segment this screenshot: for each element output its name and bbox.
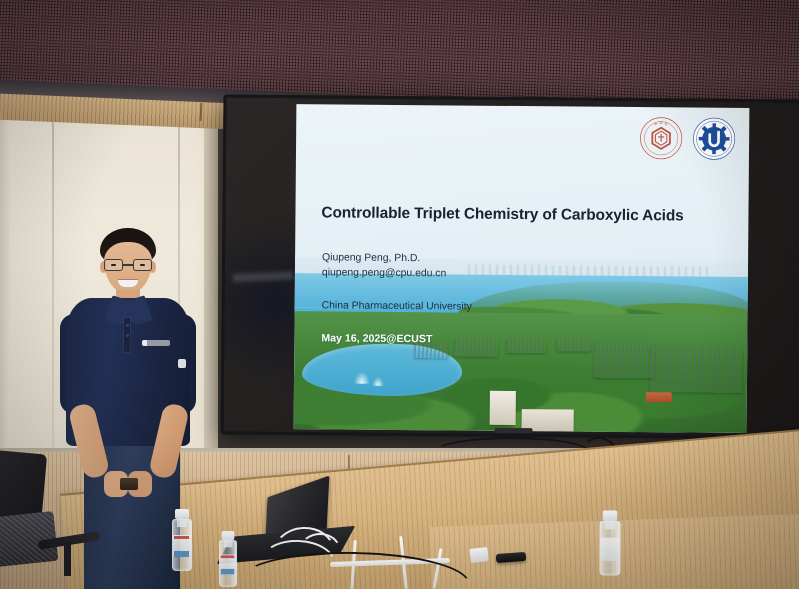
gear-circle-icon xyxy=(692,117,736,161)
slide-logo-row: 中国药 xyxy=(639,116,736,161)
wall-display[interactable]: 中国药 xyxy=(221,94,799,439)
bottle-cap[interactable] xyxy=(175,509,189,519)
shirt-button xyxy=(126,324,129,327)
presentation-clicker[interactable] xyxy=(120,478,138,490)
photo-building xyxy=(556,338,590,351)
photo-red-roof xyxy=(646,392,672,402)
photo-tower xyxy=(490,391,516,425)
water-bottle[interactable] xyxy=(219,531,237,587)
eye xyxy=(111,264,116,266)
svg-text:国: 国 xyxy=(659,120,662,125)
svg-text:药: 药 xyxy=(665,121,668,126)
eye xyxy=(140,264,145,266)
shield-emblem-icon: 中国药 xyxy=(639,116,683,160)
photo-scene: 中国药 xyxy=(0,0,799,589)
svg-text:中: 中 xyxy=(654,121,657,126)
photo-fountain xyxy=(372,377,384,386)
office-chair[interactable] xyxy=(0,452,78,589)
photo-building xyxy=(506,339,546,353)
chair-stem xyxy=(64,542,71,576)
presentation-slide: 中国药 xyxy=(294,104,750,433)
power-plug[interactable] xyxy=(469,547,488,563)
champion-sleeve-logo-icon xyxy=(178,359,186,368)
photo-building xyxy=(454,338,498,356)
champion-logo-icon xyxy=(142,340,170,346)
display-brand-badge xyxy=(494,428,532,433)
slide-date-venue: May 16, 2025@ECUST xyxy=(321,332,432,345)
slide-presenter-email: qiupeng.peng@cpu.edu.cn xyxy=(322,265,447,281)
slide-affiliation: China Pharmaceutical University xyxy=(322,300,472,312)
bottle-cap[interactable] xyxy=(222,531,235,540)
slide-presenter-name: Qiupeng Peng, Ph.D. xyxy=(322,250,447,266)
photo-building xyxy=(650,346,742,393)
water-bottle[interactable] xyxy=(600,510,621,575)
campus-aerial-photo xyxy=(294,257,748,433)
shirt-button xyxy=(126,334,129,337)
slide-presenter-block: Qiupeng Peng, Ph.D. qiupeng.peng@cpu.edu… xyxy=(322,250,447,281)
bottle-cap[interactable] xyxy=(603,510,618,521)
slide-title: Controllable Triplet Chemistry of Carbox… xyxy=(321,204,734,226)
photo-building xyxy=(594,342,654,379)
wall-left-edge xyxy=(0,108,10,458)
photo-fountain xyxy=(354,372,370,384)
water-bottle[interactable] xyxy=(172,509,192,571)
